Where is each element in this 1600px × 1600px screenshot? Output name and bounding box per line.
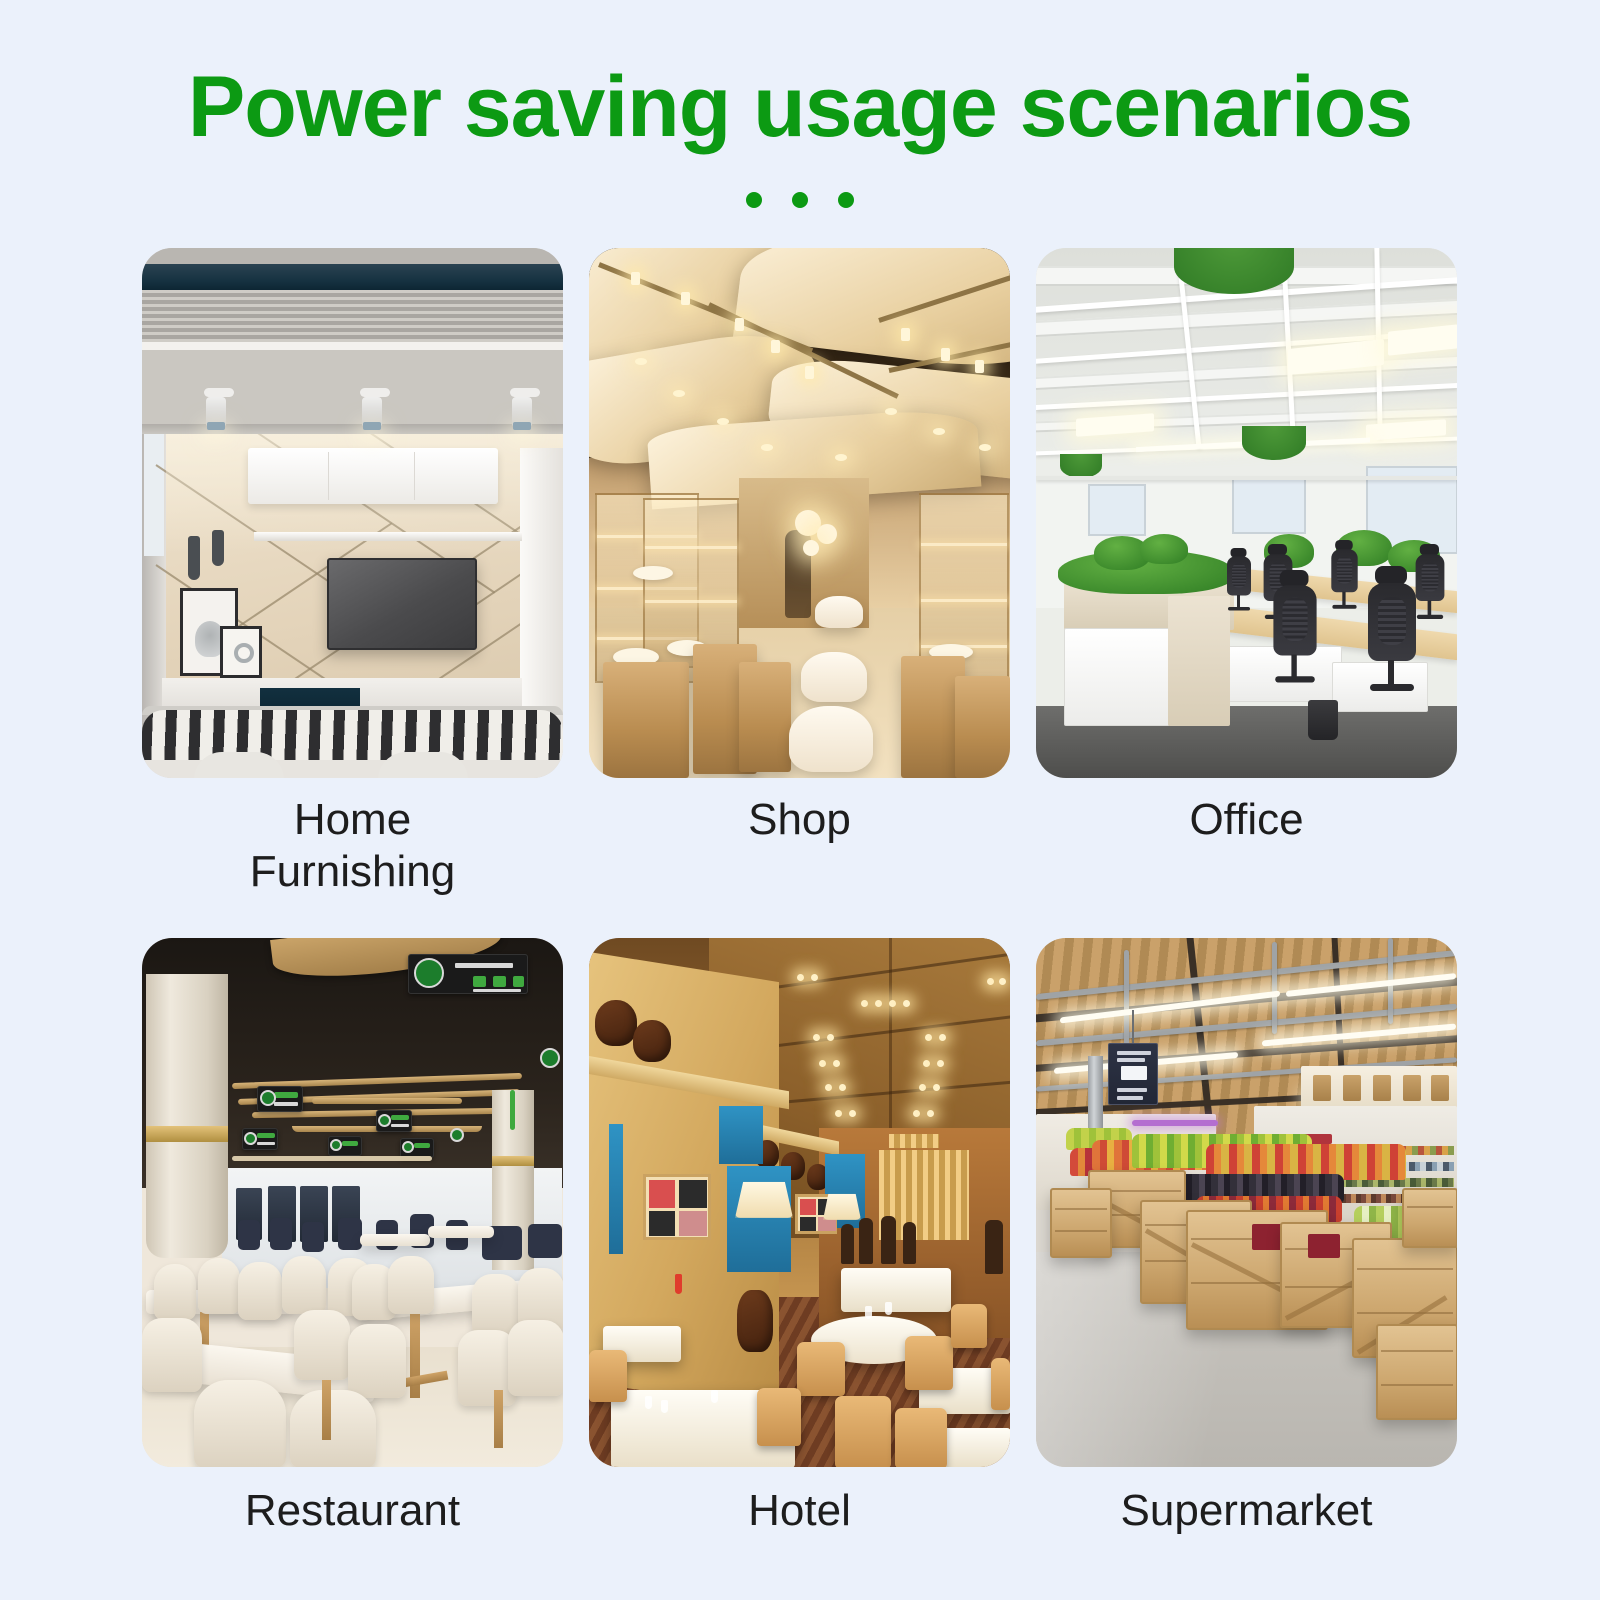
- scenario-card-supermarket[interactable]: Supermarket: [1036, 938, 1457, 1537]
- scenario-image-restaurant: [142, 938, 563, 1467]
- scenario-card-restaurant[interactable]: Restaurant: [142, 938, 563, 1537]
- scenario-grid: Home Furnishing: [142, 248, 1458, 1537]
- scenario-label-office: Office: [1189, 794, 1303, 846]
- scenario-image-hotel: [589, 938, 1010, 1467]
- scenario-card-home-furnishing[interactable]: Home Furnishing: [142, 248, 563, 898]
- scenario-label-hotel: Hotel: [748, 1485, 851, 1537]
- scenario-label-shop: Shop: [748, 794, 851, 846]
- dot-2-icon: [792, 192, 808, 208]
- scenario-card-office[interactable]: Office: [1036, 248, 1457, 898]
- scenario-image-home-furnishing: [142, 248, 563, 778]
- scenario-image-shop: [589, 248, 1010, 778]
- scenario-image-supermarket: [1036, 938, 1457, 1467]
- dot-1-icon: [746, 192, 762, 208]
- dot-3-icon: [838, 192, 854, 208]
- scenario-label-home-furnishing: Home Furnishing: [250, 794, 455, 898]
- scenario-label-supermarket: Supermarket: [1121, 1485, 1373, 1537]
- ellipsis-dots: [0, 192, 1600, 208]
- poster-page: Power saving usage scenarios: [0, 0, 1600, 1600]
- page-title: Power saving usage scenarios: [0, 62, 1600, 152]
- scenario-card-hotel[interactable]: Hotel: [589, 938, 1010, 1537]
- scenario-card-shop[interactable]: Shop: [589, 248, 1010, 898]
- scenario-label-restaurant: Restaurant: [245, 1485, 460, 1537]
- scenario-image-office: [1036, 248, 1457, 778]
